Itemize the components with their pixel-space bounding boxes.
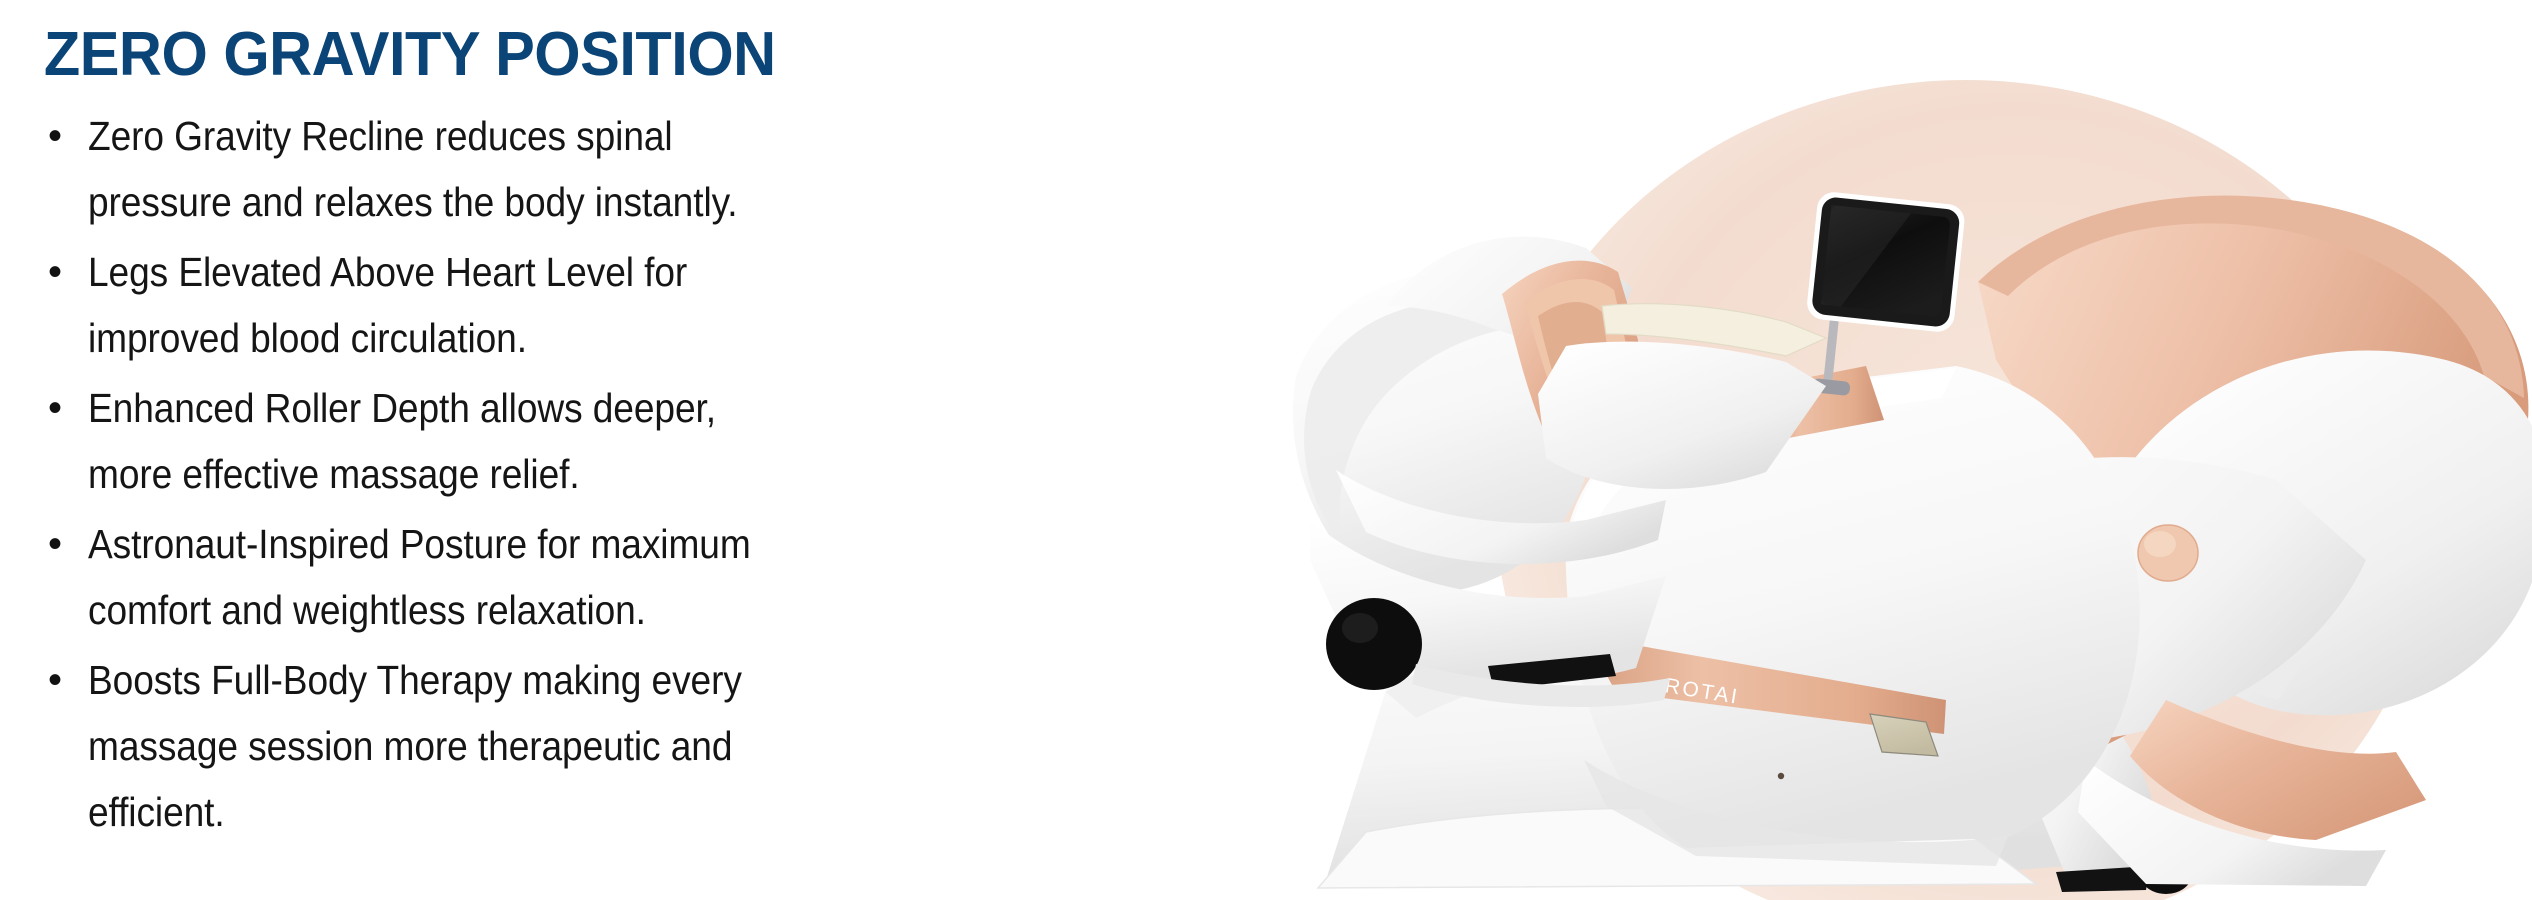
- product-image: ROTAI: [1266, 0, 2532, 900]
- list-item: • Boosts Full-Body Therapy making every …: [40, 647, 1240, 845]
- bullet-dot-icon: •: [42, 103, 88, 169]
- list-item: • Legs Elevated Above Heart Level for im…: [40, 239, 1240, 371]
- caster-wheel-gloss: [1342, 613, 1378, 643]
- tablet-screen: [1806, 191, 1967, 334]
- list-item: • Astronaut-Inspired Posture for maximum…: [40, 511, 1240, 643]
- bullet-dot-icon: •: [42, 647, 88, 713]
- side-control-button-gloss: [2144, 531, 2176, 557]
- list-item: • Zero Gravity Recline reduces spinal pr…: [40, 103, 1240, 235]
- massage-chair-illustration: ROTAI: [1266, 0, 2532, 900]
- list-item: • Enhanced Roller Depth allows deeper, m…: [40, 375, 1240, 507]
- list-item-text: Legs Elevated Above Heart Level for impr…: [88, 239, 785, 371]
- bullet-dot-icon: •: [42, 239, 88, 305]
- list-item-text: Enhanced Roller Depth allows deeper, mor…: [88, 375, 785, 507]
- list-item-text: Zero Gravity Recline reduces spinal pres…: [88, 103, 785, 235]
- page-title: ZERO GRAVITY POSITION: [40, 0, 1192, 87]
- text-column: ZERO GRAVITY POSITION • Zero Gravity Rec…: [40, 0, 1240, 900]
- caster-wheel-left: [1326, 598, 1422, 690]
- zero-gravity-banner: ZERO GRAVITY POSITION • Zero Gravity Rec…: [0, 0, 2532, 900]
- feature-bullet-list: • Zero Gravity Recline reduces spinal pr…: [40, 87, 1240, 845]
- list-item-text: Astronaut-Inspired Posture for maximum c…: [88, 511, 785, 643]
- list-item-text: Boosts Full-Body Therapy making every ma…: [88, 647, 785, 845]
- bullet-dot-icon: •: [42, 511, 88, 577]
- vent-dot: [1778, 773, 1784, 779]
- bullet-dot-icon: •: [42, 375, 88, 441]
